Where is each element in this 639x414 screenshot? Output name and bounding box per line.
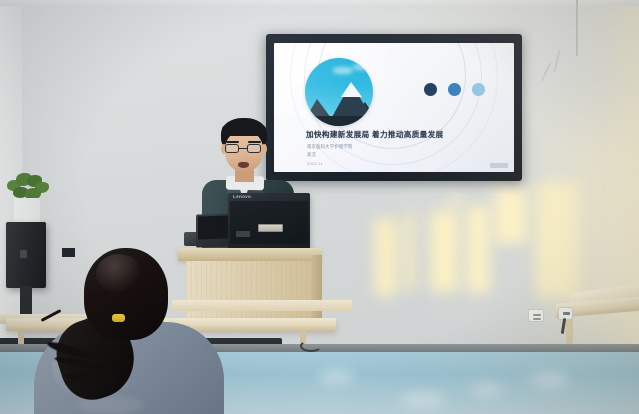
laptop-on-lectern: [196, 213, 232, 247]
wall-cable: [576, 0, 578, 56]
presenter-eyebrow: [248, 141, 261, 143]
mountain-base: [305, 116, 373, 126]
audience-member: [34, 248, 224, 414]
slide-subtitle-org: 南京医科大学护理学院: [307, 144, 352, 150]
slide-title: 加快构建新发展局 着力推动高质量发展: [306, 129, 444, 140]
display-panel: 加快构建新发展局 着力推动高质量发展 南京医科大学护理学院 高洁 2023.11: [274, 43, 514, 172]
floor-reflection: [318, 370, 354, 384]
slide-date: 2023.11: [307, 161, 323, 166]
glasses-bridge: [239, 148, 247, 149]
presenter-ear: [261, 144, 267, 154]
floor-reflection: [530, 372, 570, 387]
monitor-sticker: [258, 224, 283, 232]
hair-tie: [112, 314, 125, 322]
accent-dots: [424, 83, 485, 96]
slide-watermark: [490, 163, 508, 168]
hair-wisp: [41, 309, 62, 322]
floor-reflection: [470, 384, 504, 396]
floor-cable: [300, 340, 322, 352]
lectern-side: [312, 255, 322, 321]
glasses-icon: [225, 144, 239, 153]
presenter-eyebrow: [226, 141, 239, 143]
mountain-photo-icon: [305, 58, 373, 126]
lecture-room-photo: 加快构建新发展局 着力推动高质量发展 南京医科大学护理学院 高洁 2023.11: [0, 0, 639, 414]
socket-slot: [563, 312, 570, 315]
floor-reflection: [400, 392, 446, 408]
wall-socket-left: [528, 309, 544, 322]
dot-dark-navy-icon: [424, 83, 437, 96]
glasses-icon: [247, 144, 261, 153]
socket-slot: [533, 314, 541, 316]
ceiling-edge: [0, 0, 639, 6]
dot-medium-blue-icon: [448, 83, 461, 96]
snow-cap: [341, 82, 362, 97]
laptop-screen: [198, 215, 230, 239]
desktop-monitor: Lenovo: [228, 193, 310, 250]
cloud: [333, 67, 353, 74]
speaker-driver: [20, 250, 27, 258]
cloud: [353, 64, 367, 70]
monitor-brand-label: Lenovo: [233, 194, 251, 199]
socket-slot: [533, 318, 541, 320]
dot-light-blue-icon: [472, 83, 485, 96]
slide-subtitle-presenter: 高洁: [307, 152, 316, 158]
presentation-slide: 加快构建新发展局 着力推动高质量发展 南京医科大学护理学院 高洁 2023.11: [274, 43, 514, 172]
monitor-ports: [236, 231, 250, 237]
monitor-screen: [230, 201, 308, 244]
presenter-hair-front: [222, 122, 266, 136]
hair-highlight: [96, 254, 142, 294]
presenter-mouth: [238, 162, 249, 168]
